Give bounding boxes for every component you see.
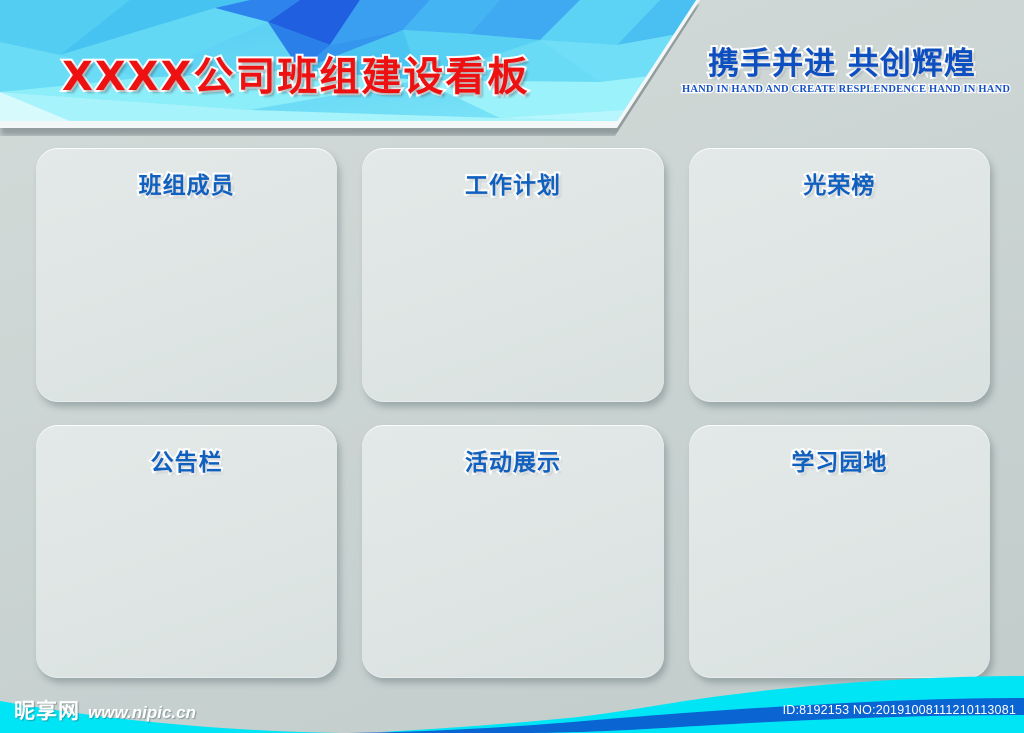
watermark-url: www.nipic.cn xyxy=(88,703,196,723)
panel-grid: 班组成员 工作计划 光荣榜 公告栏 活动展示 学习园地 xyxy=(36,148,990,678)
header-banner: XXXX公司班组建设看板 xyxy=(0,0,700,132)
panel-title: 班组成员 xyxy=(36,166,337,200)
panel-title: 活动展示 xyxy=(362,443,663,477)
panel-work-plan[interactable]: 工作计划 xyxy=(362,148,663,402)
page-title: XXXX公司班组建设看板 xyxy=(62,44,529,102)
panel-title: 光荣榜 xyxy=(689,166,990,200)
panel-team-members[interactable]: 班组成员 xyxy=(36,148,337,402)
panel-title: 工作计划 xyxy=(362,166,663,200)
panel-honor-roll[interactable]: 光荣榜 xyxy=(689,148,990,402)
slogan-chinese: 携手并进 共创辉煌 xyxy=(682,48,1002,81)
kanban-board: XXXX公司班组建设看板 携手并进 共创辉煌 HAND IN HAND AND … xyxy=(0,0,1024,733)
panel-activity-showcase[interactable]: 活动展示 xyxy=(362,425,663,679)
slogan-block: 携手并进 共创辉煌 HAND IN HAND AND CREATE RESPLE… xyxy=(682,48,1002,95)
panel-title: 学习园地 xyxy=(689,443,990,477)
panel-study-corner[interactable]: 学习园地 xyxy=(689,425,990,679)
watermark-logo: 昵享网 xyxy=(14,695,80,725)
panel-bulletin-board[interactable]: 公告栏 xyxy=(36,425,337,679)
id-tag: ID:8192153 NO:20191008111210113081 xyxy=(783,703,1016,717)
slogan-english: HAND IN HAND AND CREATE RESPLENDENCE HAN… xyxy=(682,84,1002,95)
watermark: 昵享网 www.nipic.cn xyxy=(14,695,196,725)
panel-title: 公告栏 xyxy=(36,443,337,477)
